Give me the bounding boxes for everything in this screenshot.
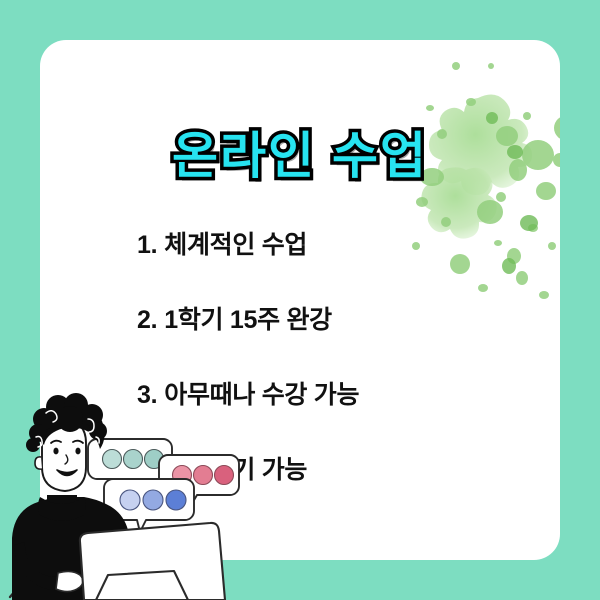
list-item-number: 1. [137, 231, 157, 259]
title-container: 온라인 수업 [40, 128, 560, 186]
list-item: 4.끊어듣기 가능 [137, 450, 537, 486]
white-content-card: 온라인 수업 1.체계적인 수업 2.1학기 15주 완강 3.아무때나 수강 … [40, 40, 560, 560]
list-item: 1.체계적인 수업 [137, 225, 537, 261]
list-item-label: 끊어듣기 가능 [164, 456, 307, 484]
list-item-number: 3. [137, 381, 157, 409]
list-item-label: 아무때나 수강 가능 [164, 381, 359, 409]
list-item-label: 체계적인 수업 [164, 231, 307, 259]
list-item: 3.아무때나 수강 가능 [137, 375, 537, 411]
page-title: 온라인 수업 [172, 128, 428, 186]
list-item: 2.1학기 15주 완강 [137, 300, 537, 336]
list-item-number: 2. [137, 306, 157, 334]
poster-canvas: 온라인 수업 1.체계적인 수업 2.1학기 15주 완강 3.아무때나 수강 … [0, 0, 600, 600]
feature-list: 1.체계적인 수업 2.1학기 15주 완강 3.아무때나 수강 가능 4.끊어… [137, 225, 537, 525]
list-item-label: 1학기 15주 완강 [164, 306, 332, 334]
list-item-number: 4. [137, 456, 157, 484]
